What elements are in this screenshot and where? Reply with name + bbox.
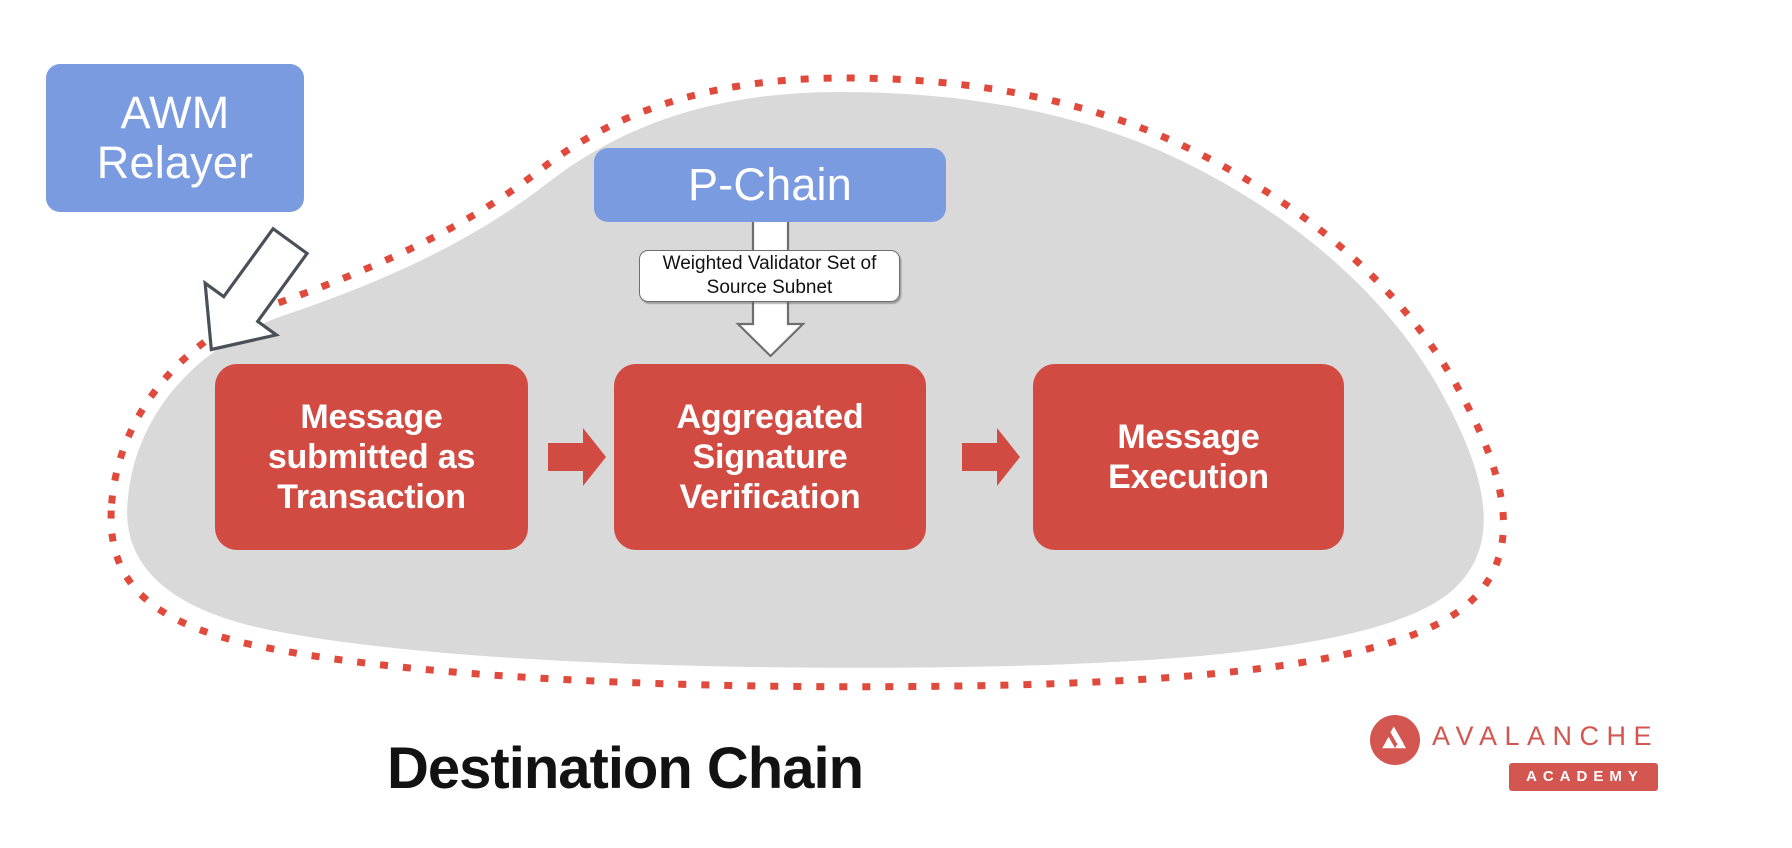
p-chain-label: P-Chain: [688, 160, 852, 210]
node-message-submitted-as-transaction[interactable]: Message submitted as Transaction: [215, 364, 528, 550]
awm-relayer-label-line1: AWM: [97, 88, 253, 138]
node-message-execution[interactable]: Message Execution: [1033, 364, 1344, 550]
validator-set-label-line2: Source Subnet: [663, 276, 877, 300]
message-execution-line2: Execution: [1108, 457, 1269, 497]
diagram-canvas: AWM Relayer P-Chain Weighted Validator S…: [0, 0, 1792, 848]
message-submitted-label: Message submitted as Transaction: [268, 397, 475, 517]
message-execution-label: Message Execution: [1108, 417, 1269, 497]
signature-verification-line1: Aggregated: [677, 397, 864, 437]
message-submitted-line1: Message: [268, 397, 475, 437]
signature-verification-label: Aggregated Signature Verification: [677, 397, 864, 517]
academy-badge-text: ACADEMY: [1526, 768, 1644, 785]
awm-relayer-label: AWM Relayer: [97, 88, 253, 189]
avalanche-mark-icon: [1370, 715, 1420, 765]
node-weighted-validator-set[interactable]: Weighted Validator Set of Source Subnet: [639, 250, 900, 302]
awm-relayer-label-line2: Relayer: [97, 138, 253, 188]
message-submitted-line2: submitted as: [268, 437, 475, 477]
validator-set-label-line1: Weighted Validator Set of: [663, 252, 877, 276]
pchain-to-validator-stub: [753, 222, 788, 252]
validator-set-label-text: Weighted Validator Set of Source Subnet: [663, 252, 877, 300]
message-submitted-line3: Transaction: [268, 477, 475, 517]
message-execution-line1: Message: [1108, 417, 1269, 457]
signature-verification-line3: Verification: [677, 477, 864, 517]
signature-verification-line2: Signature: [677, 437, 864, 477]
avalanche-wordmark: AVALANCHE: [1432, 721, 1659, 752]
node-awm-relayer[interactable]: AWM Relayer: [46, 64, 304, 212]
page-title: Destination Chain: [0, 735, 1250, 802]
avalanche-academy-logo: AVALANCHE ACADEMY: [1370, 713, 1660, 799]
node-aggregated-signature-verification[interactable]: Aggregated Signature Verification: [614, 364, 926, 550]
node-p-chain[interactable]: P-Chain: [594, 148, 946, 222]
academy-badge: ACADEMY: [1509, 763, 1658, 791]
